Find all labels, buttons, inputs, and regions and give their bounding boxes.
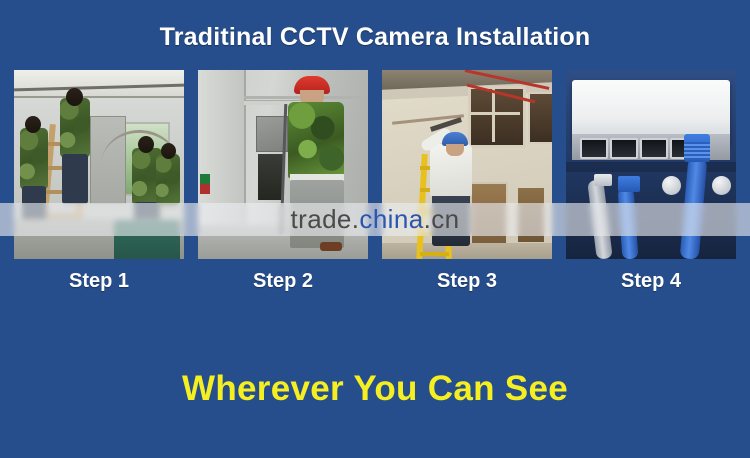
step-photo-3 (382, 70, 552, 259)
network-switch-cables-photo (566, 70, 736, 259)
junction-box-wiring-photo (198, 70, 368, 259)
cctv-installation-banner: Traditinal CCTV Camera Installation (0, 0, 750, 458)
step-photo-strip (14, 70, 736, 259)
step-label-2: Step 2 (198, 268, 368, 296)
step-label-row: Step 1 Step 2 Step 3 Step 4 (14, 268, 736, 296)
step-photo-4 (566, 70, 736, 259)
page-title: Traditinal CCTV Camera Installation (0, 22, 750, 52)
step-photo-2 (198, 70, 368, 259)
step-photo-1 (14, 70, 184, 259)
indoor-ceiling-cabling-photo (14, 70, 184, 259)
step-label-1: Step 1 (14, 268, 184, 296)
step-label-4: Step 4 (566, 268, 736, 296)
exterior-wall-ladder-photo (382, 70, 552, 259)
step-label-3: Step 3 (382, 268, 552, 296)
tagline: Wherever You Can See (0, 368, 750, 410)
